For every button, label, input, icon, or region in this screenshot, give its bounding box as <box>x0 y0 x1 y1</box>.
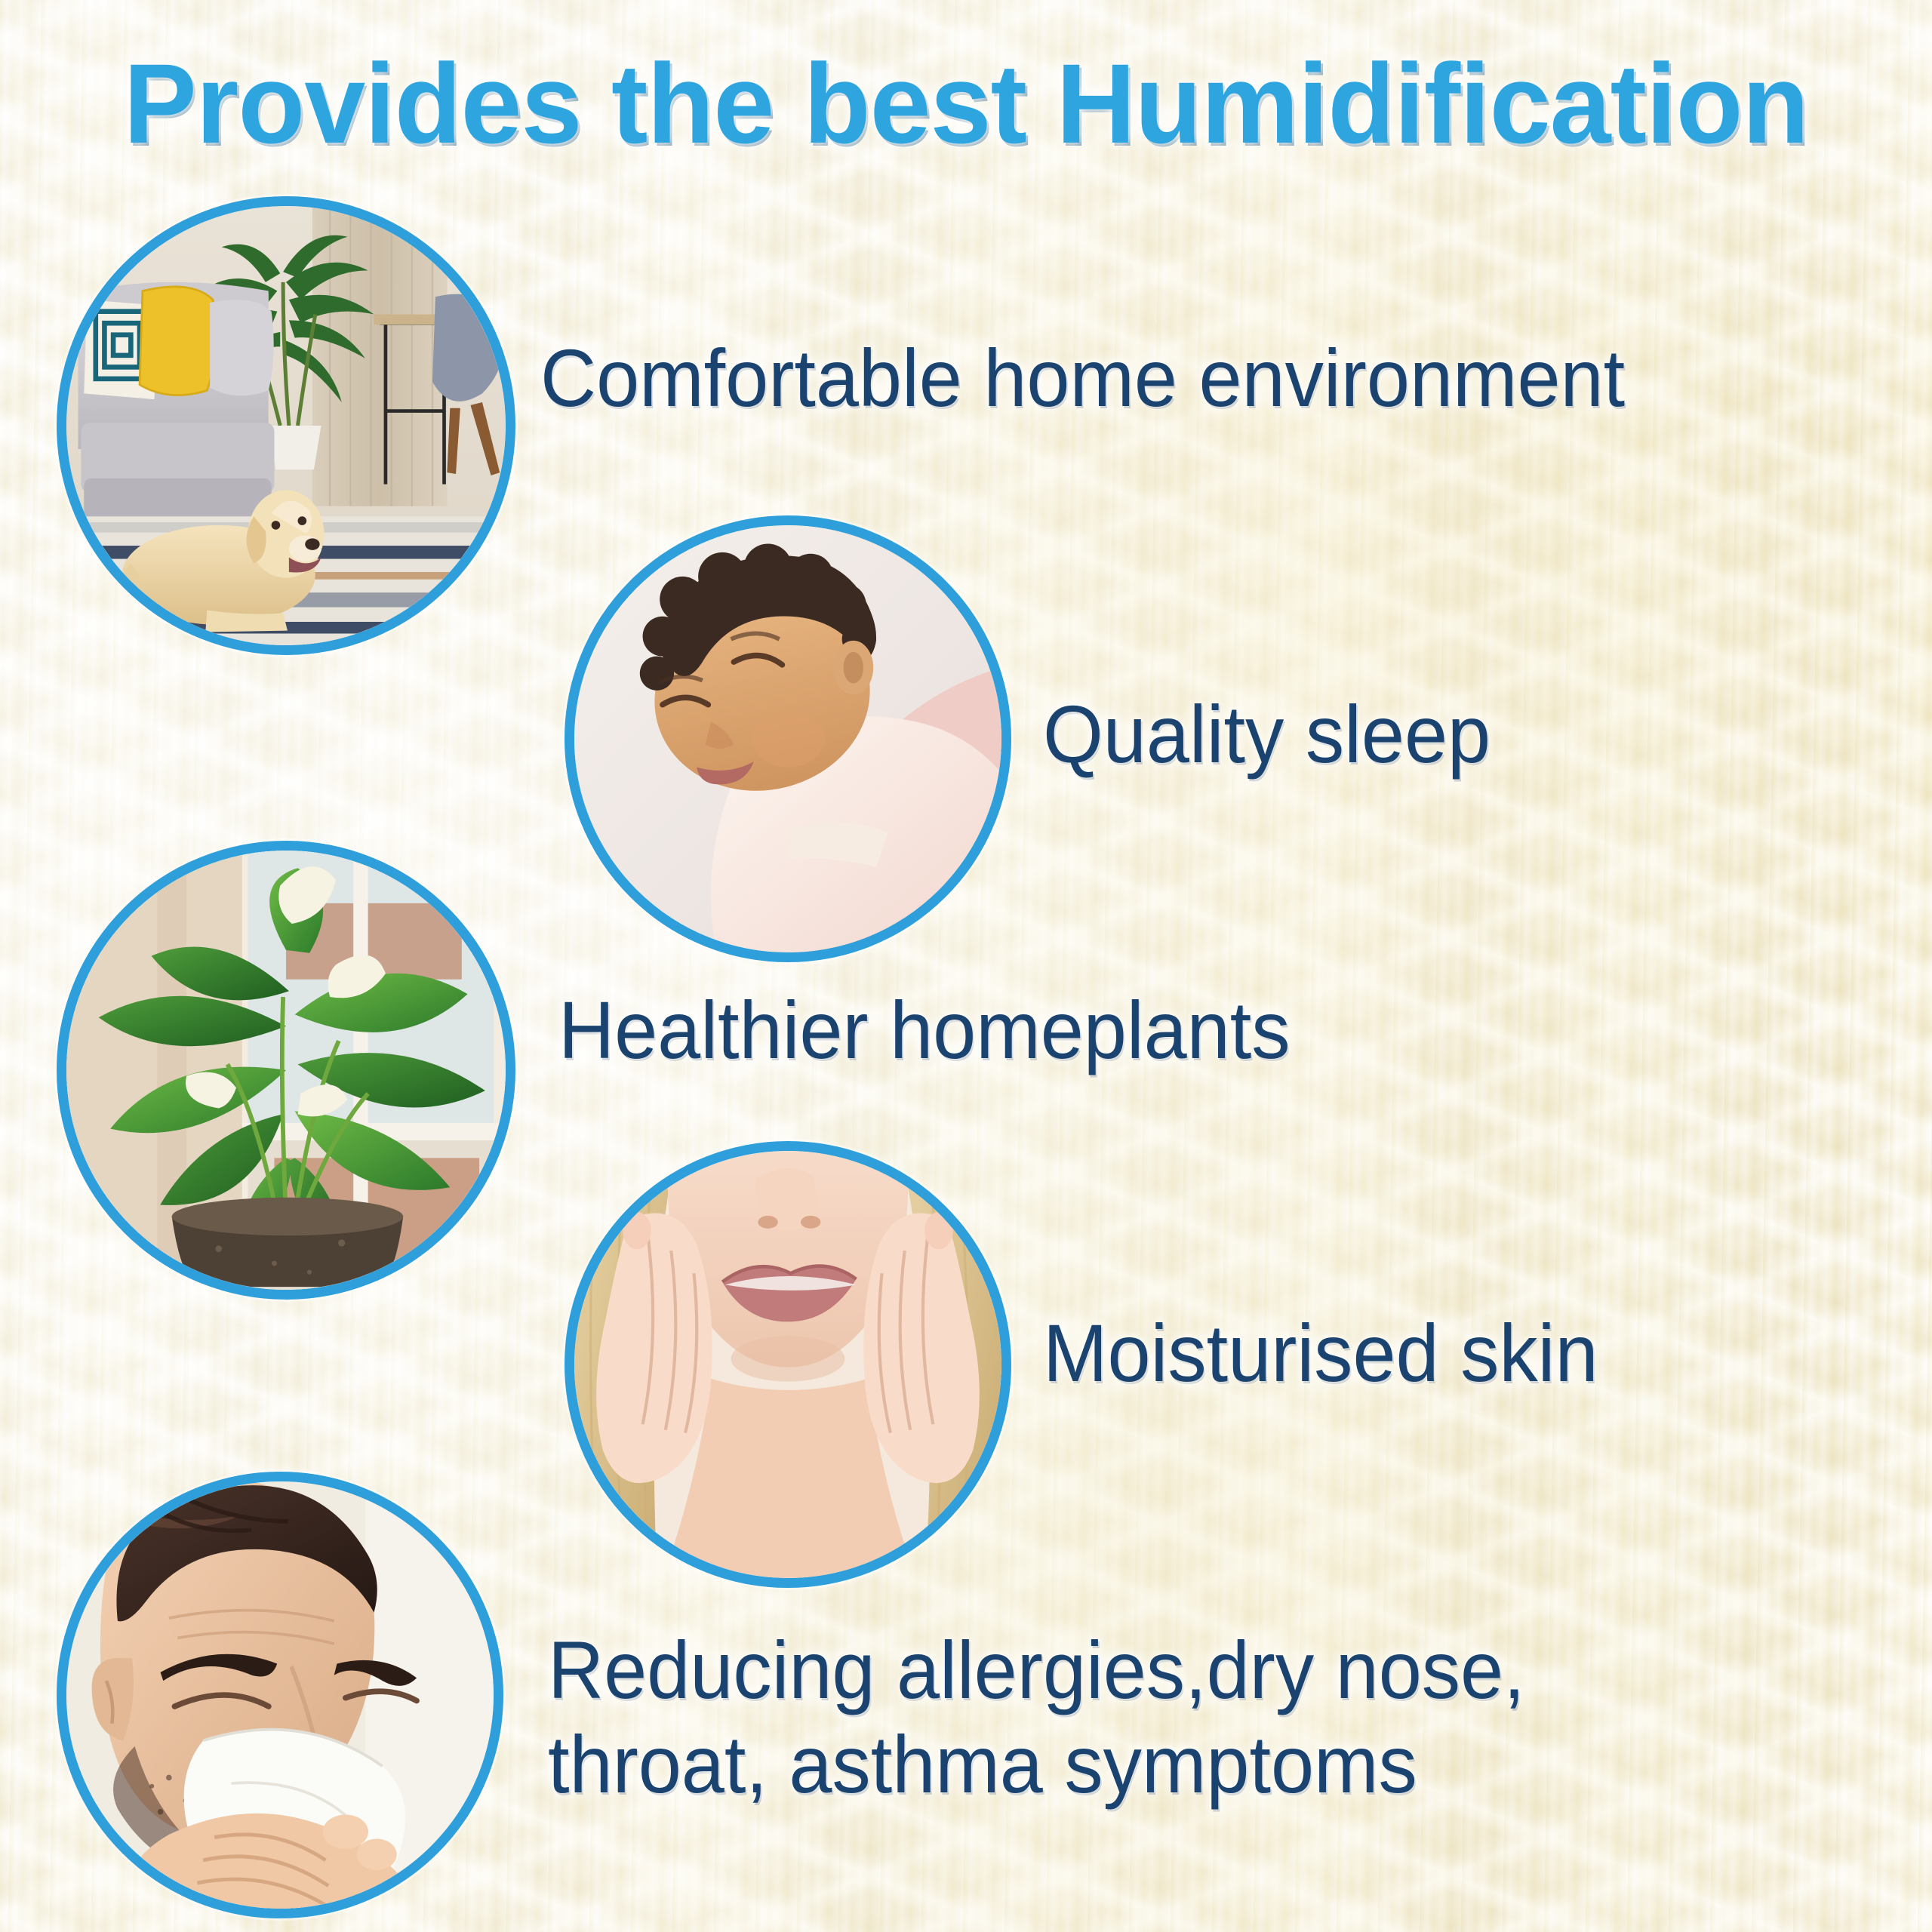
benefit-label-comfortable-home-environment: Comfortable home environment <box>540 331 1625 425</box>
benefit-label-reducing-allergies: Reducing allergies,dry nose, throat, ast… <box>548 1623 1525 1812</box>
peace-lily-plant-photo <box>57 841 515 1300</box>
benefit-label-healthier-homeplants: Healthier homeplants <box>558 983 1291 1077</box>
photo-artwork <box>66 851 506 1290</box>
photo-artwork <box>66 206 506 645</box>
page-title: Provides the best Humidification <box>29 47 1903 160</box>
photo-artwork <box>574 525 1001 952</box>
infographic-canvas: Provides the best Humidification <box>0 0 1932 1932</box>
woman-touching-face-photo <box>565 1141 1011 1588</box>
benefit-label-quality-sleep: Quality sleep <box>1043 687 1491 781</box>
photo-artwork <box>574 1151 1001 1578</box>
photo-artwork <box>66 1481 494 1909</box>
benefit-label-moisturised-skin: Moisturised skin <box>1043 1306 1598 1400</box>
man-blowing-nose-photo <box>57 1472 503 1918</box>
living-room-with-dog-photo <box>57 196 515 655</box>
sleeping-baby-photo <box>565 515 1011 962</box>
